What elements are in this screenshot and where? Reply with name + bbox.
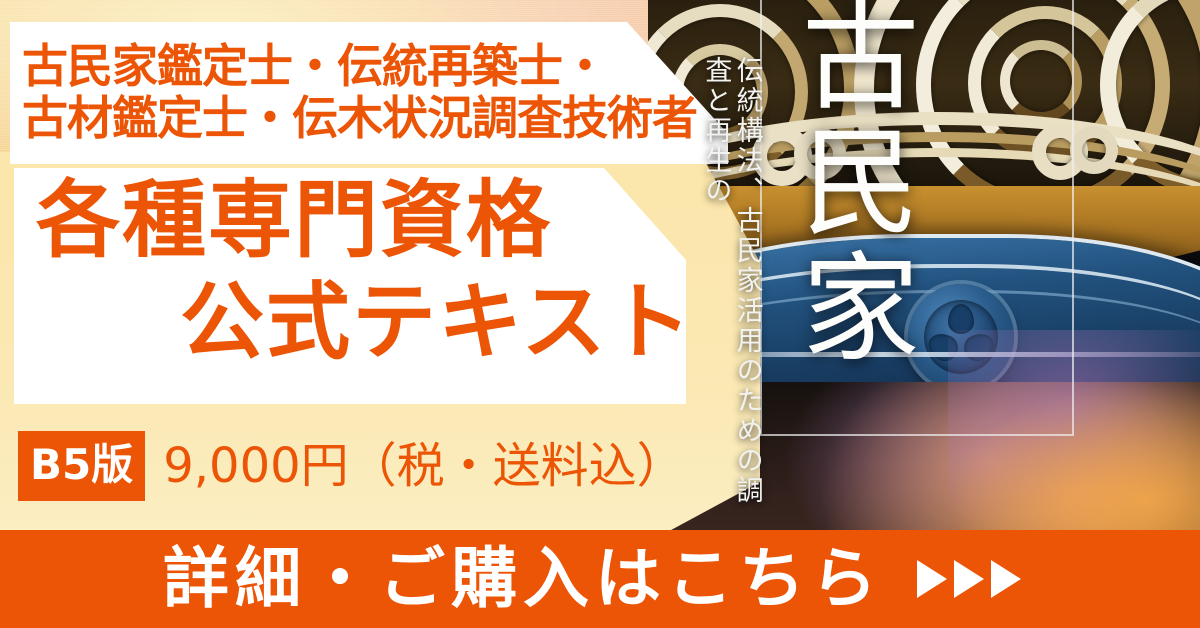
cta-bar[interactable]: 詳細・ご購入はこちら (0, 530, 1200, 628)
orange-glow (948, 380, 1200, 536)
triangle-right-icon (917, 560, 947, 598)
cta-label: 詳細・ご購入はこちら (163, 546, 883, 612)
cta-inner: 詳細・ご購入はこちら (163, 546, 1021, 612)
book-cover-subtitle: 伝統構法、古民家活用のための調査と再生の (700, 56, 763, 526)
qualifications-text: 古民家鑑定士・伝統再築士・ 古材鑑定士・伝木状況調査技術者 (10, 41, 697, 145)
title-line-1: 各種専門資格 (36, 178, 552, 262)
qualifications-line-1: 古民家鑑定士・伝統再築士・ (22, 41, 697, 93)
triangle-right-icon (954, 560, 984, 598)
triangle-right-icon (991, 560, 1021, 598)
qualifications-header-box: 古民家鑑定士・伝統再築士・ 古材鑑定士・伝木状況調査技術者 (10, 22, 728, 164)
price-row: B5版 9,000円（税・送料込） (18, 432, 685, 500)
qualifications-line-2: 古材鑑定士・伝木状況調査技術者 (22, 93, 697, 145)
book-cover-title: 古民家 (784, 0, 916, 372)
price-amount: 9,000円（税・送料込） (163, 442, 684, 490)
title-card: 各種専門資格 公式テキスト (14, 168, 686, 404)
format-badge: B5版 (18, 431, 145, 501)
cta-arrows (917, 560, 1021, 598)
promo-banner: 古民家 伝統構法、古民家活用のための調査と再生の 古民家鑑定士・伝統再築士・ 古… (0, 0, 1200, 628)
title-line-2: 公式テキスト (180, 280, 693, 364)
